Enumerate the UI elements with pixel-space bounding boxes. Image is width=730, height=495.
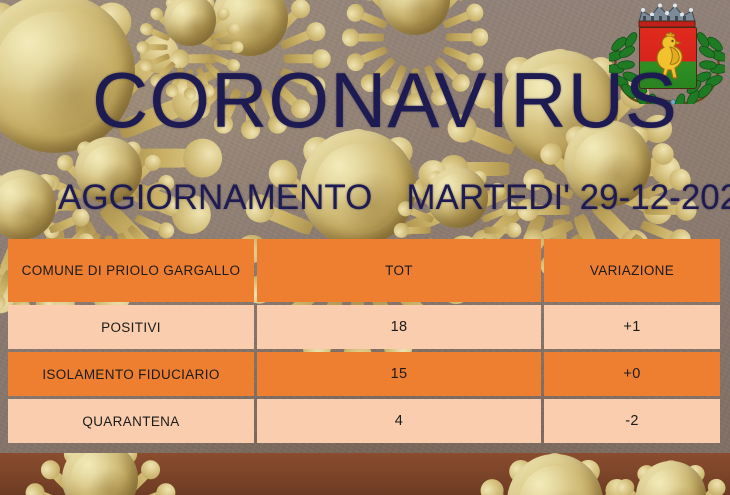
virus-spike [641,469,663,495]
update-date: MARTEDI' 29-12-2020 [406,180,730,215]
row-tot-positivi: 18 [257,305,541,349]
row-variazione-positivi: +1 [544,305,720,349]
row-tot-quarantena: 4 [257,399,541,443]
row-tot-isolamento-fiduciario: 15 [257,352,541,396]
virus-core [62,453,139,495]
virus-spike [667,465,675,495]
virus-spike [485,483,529,495]
virus-spike [129,487,170,495]
virus-spikes [616,453,726,495]
covid-stats-table: COMUNE DI PRIOLO GARGALLO TOT VARIAZIONE… [5,236,723,446]
header-cell-tot: TOT [257,239,541,302]
table-row: ISOLAMENTO FIDUCIARIO 15 +0 [8,352,720,396]
virus-spike [109,453,133,491]
table-row: POSITIVI 18 +1 [8,305,720,349]
header-cell-variazione: VARIAZIONE [544,239,720,302]
virus-spike [620,482,652,495]
virus-spikes [480,453,630,495]
virus-spike [120,464,155,495]
row-label-isolamento-fiduciario: ISOLAMENTO FIDUCIARIO [8,352,254,396]
update-line: AGGIORNAMENTO MARTEDI' 29-12-2020 [58,180,730,215]
virus-particle-icon [480,453,630,495]
row-variazione-isolamento-fiduciario: +0 [544,352,720,396]
row-variazione-quarantena: -2 [544,399,720,443]
virus-spike [67,453,91,491]
virus-spike [690,482,722,495]
virus-core [636,461,706,495]
crown-icon [635,2,699,28]
virus-core [507,454,603,495]
coronavirus-update-poster: CORONAVIRUS AGGIORNAMENTO MARTEDI' 29-12… [0,0,730,495]
header-cell-comune: COMUNE DI PRIOLO GARGALLO [8,239,254,302]
virus-spike [44,464,79,495]
virus-spike [514,465,544,495]
table-row: QUARANTENA 4 -2 [8,399,720,443]
update-label: AGGIORNAMENTO [58,180,372,215]
virus-spike [549,460,560,495]
virus-spike [581,483,625,495]
virus-spike [566,465,596,495]
virus-spikes [40,453,160,495]
virus-spike [30,487,71,495]
table-header-row: COMUNE DI PRIOLO GARGALLO TOT VARIAZIONE [8,239,720,302]
virus-particle-icon [616,453,726,495]
virus-spike [96,453,105,486]
row-label-quarantena: QUARANTENA [8,399,254,443]
footer-band [0,453,730,495]
row-label-positivi: POSITIVI [8,305,254,349]
virus-particle-icon [40,453,160,495]
page-title: CORONAVIRUS [92,61,678,139]
virus-spike [679,469,701,495]
